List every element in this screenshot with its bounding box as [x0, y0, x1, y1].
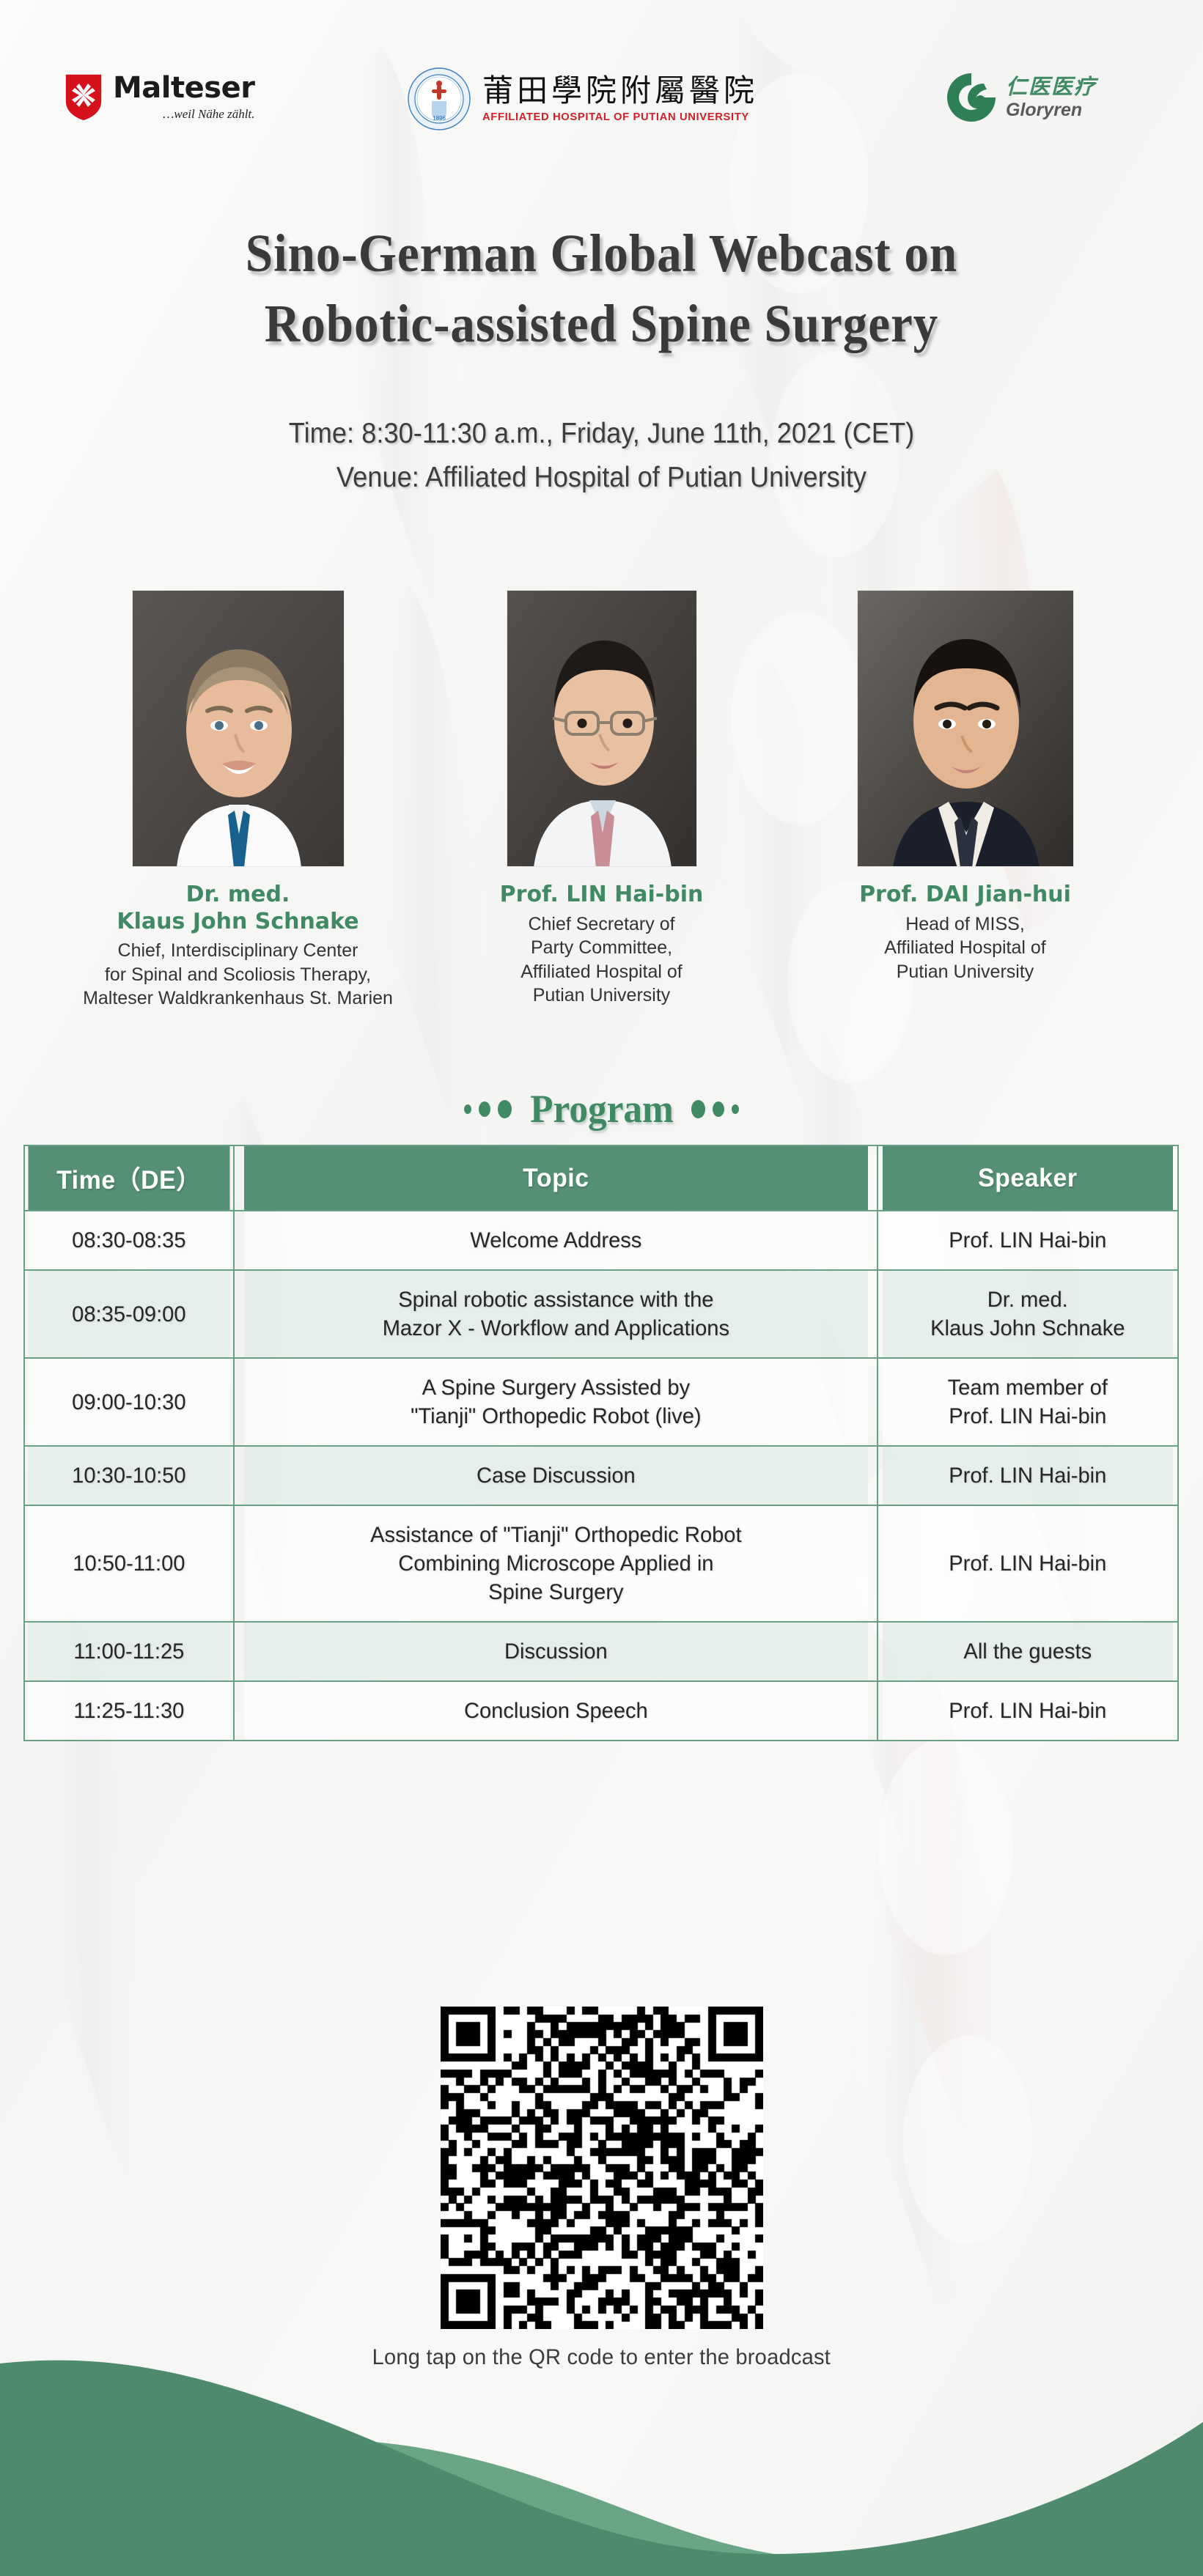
- speaker-role: Head of MISS, Affiliated Hospital of Put…: [884, 912, 1046, 984]
- malteser-shield-icon: [65, 73, 103, 122]
- table-row: 08:30-08:35 Welcome Address Prof. LIN Ha…: [24, 1211, 1178, 1270]
- column-header-topic: Topic: [243, 1145, 868, 1211]
- decor-dot-icon: [732, 1104, 739, 1114]
- avatar: [507, 590, 697, 867]
- event-meta: Time: 8:30-11:30 a.m., Friday, June 11th…: [0, 412, 1203, 501]
- title-line-1: Sino-German Global Webcast on: [48, 218, 1155, 289]
- speaker-card: Prof. DAI Jian-hui Head of MISS, Affilia…: [784, 590, 1147, 983]
- cell-time: 10:30-10:50: [27, 1446, 230, 1505]
- table-row: 10:50-11:00 Assistance of "Tianji" Ortho…: [24, 1505, 1178, 1622]
- speaker-role: Chief, Interdisciplinary Center for Spin…: [83, 939, 393, 1011]
- cell-topic: Discussion: [243, 1622, 868, 1681]
- table-row: 08:35-09:00 Spinal robotic assistance wi…: [24, 1270, 1178, 1358]
- malteser-logo: Malteser …weil Nähe zählt.: [65, 73, 254, 122]
- cell-speaker: Prof. LIN Hai-bin: [883, 1505, 1174, 1622]
- putian-seal-icon: 1896: [408, 67, 471, 130]
- cell-topic: Spinal robotic assistance with the Mazor…: [243, 1270, 868, 1358]
- program-table: Time（DE） Topic Speaker 08:30-08:35 Welco…: [23, 1145, 1179, 1741]
- decor-dot-icon: [691, 1100, 705, 1118]
- cell-time: 09:00-10:30: [27, 1358, 230, 1446]
- cell-topic: Case Discussion: [243, 1446, 868, 1505]
- cell-time: 08:30-08:35: [27, 1211, 230, 1270]
- speaker-list: Dr. med. Klaus John Schnake Chief, Inter…: [0, 590, 1203, 1052]
- speaker-name: Dr. med. Klaus John Schnake: [117, 882, 358, 935]
- decor-dot-icon: [713, 1101, 724, 1117]
- cell-speaker: Prof. LIN Hai-bin: [883, 1681, 1174, 1741]
- event-time: Time: 8:30-11:30 a.m., Friday, June 11th…: [42, 412, 1160, 456]
- table-row: 10:30-10:50 Case Discussion Prof. LIN Ha…: [24, 1446, 1178, 1505]
- cell-topic: Assistance of "Tianji" Orthopedic Robot …: [243, 1505, 868, 1622]
- cell-time: 08:35-09:00: [27, 1270, 230, 1358]
- table-header-row: Time（DE） Topic Speaker: [24, 1145, 1178, 1211]
- gloryren-swirl-icon: [946, 72, 997, 123]
- program-title-text: Program: [530, 1086, 674, 1132]
- cell-speaker: All the guests: [883, 1622, 1174, 1681]
- speaker-role: Chief Secretary of Party Committee, Affi…: [520, 912, 683, 1008]
- avatar: [857, 590, 1074, 867]
- event-venue: Venue: Affiliated Hospital of Putian Uni…: [42, 456, 1160, 500]
- gloryren-logo: 仁医医疗 Gloryren: [946, 72, 1097, 123]
- cell-time: 10:50-11:00: [27, 1505, 230, 1622]
- cell-time: 11:25-11:30: [27, 1681, 230, 1741]
- cell-speaker: Team member of Prof. LIN Hai-bin: [883, 1358, 1174, 1446]
- gloryren-chinese-name: 仁医医疗: [1006, 76, 1097, 97]
- decor-dot-icon: [498, 1100, 512, 1118]
- cell-time: 11:00-11:25: [27, 1622, 230, 1681]
- table-row: 11:00-11:25 Discussion All the guests: [24, 1622, 1178, 1681]
- footer-wave-decoration: [0, 2341, 1203, 2576]
- column-header-speaker: Speaker: [883, 1145, 1174, 1211]
- speaker-card: Prof. LIN Hai-bin Chief Secretary of Par…: [420, 590, 784, 1008]
- decor-dot-icon: [464, 1104, 471, 1114]
- qr-code-image[interactable]: [441, 2007, 763, 2329]
- svg-text:1896: 1896: [433, 115, 446, 122]
- cell-topic: A Spine Surgery Assisted by "Tianji" Ort…: [243, 1358, 868, 1446]
- gloryren-english-name: Gloryren: [1006, 101, 1097, 119]
- table-body: 08:30-08:35 Welcome Address Prof. LIN Ha…: [24, 1211, 1178, 1741]
- cell-speaker: Prof. LIN Hai-bin: [883, 1446, 1174, 1505]
- poster-root: Malteser …weil Nähe zählt. 1896: [0, 0, 1203, 2576]
- table-row: 09:00-10:30 A Spine Surgery Assisted by …: [24, 1358, 1178, 1446]
- logo-row: Malteser …weil Nähe zählt. 1896: [0, 67, 1203, 163]
- page-title: Sino-German Global Webcast on Robotic-as…: [0, 218, 1203, 360]
- table-row: 11:25-11:30 Conclusion Speech Prof. LIN …: [24, 1681, 1178, 1741]
- putian-english-name: AFFILIATED HOSPITAL OF PUTIAN UNIVERSITY: [482, 111, 764, 123]
- table-head: Time（DE） Topic Speaker: [24, 1145, 1178, 1211]
- program-heading: Program: [0, 1086, 1203, 1132]
- putian-hospital-logo: 1896 莆田學院附屬醫院 AFFILIATED HOSPITAL OF PUT…: [408, 67, 758, 130]
- column-header-time: Time（DE）: [27, 1145, 230, 1211]
- cell-topic: Conclusion Speech: [243, 1681, 868, 1741]
- malteser-wordmark: Malteser: [113, 73, 254, 103]
- cell-speaker: Prof. LIN Hai-bin: [883, 1211, 1174, 1270]
- speaker-card: Dr. med. Klaus John Schnake Chief, Inter…: [56, 590, 420, 1011]
- speaker-name: Prof. DAI Jian-hui: [859, 882, 1071, 909]
- qr-section: Long tap on the QR code to enter the bro…: [0, 2007, 1203, 2370]
- speaker-name: Prof. LIN Hai-bin: [500, 882, 704, 909]
- avatar: [132, 590, 345, 867]
- putian-chinese-name: 莆田學院附屬醫院: [482, 75, 758, 107]
- title-line-2: Robotic-assisted Spine Surgery: [48, 289, 1155, 359]
- malteser-claim: …weil Nähe zählt.: [113, 107, 254, 122]
- cell-speaker: Dr. med. Klaus John Schnake: [883, 1270, 1174, 1358]
- cell-topic: Welcome Address: [243, 1211, 868, 1270]
- decor-dot-icon: [479, 1101, 490, 1117]
